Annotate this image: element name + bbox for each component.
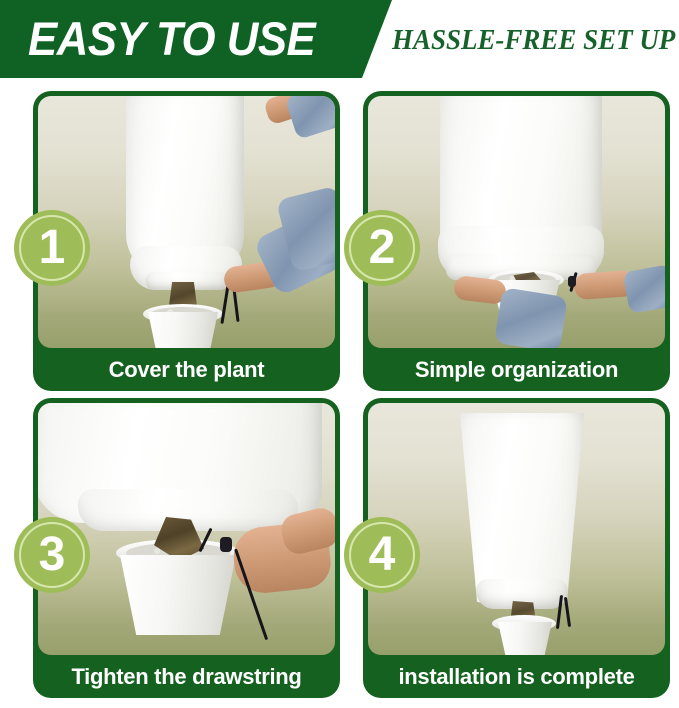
step-caption-3: Tighten the drawstring (38, 655, 335, 698)
step-number-badge-2: 2 (344, 210, 420, 286)
header-banner-area: EASY TO USE HASSLE-FREE SET UP (0, 0, 679, 80)
step-number-badge-1: 1 (14, 210, 90, 286)
step-number-badge-4: 4 (344, 517, 420, 593)
step-photo-4 (368, 403, 665, 655)
steps-grid: Cover the plant Si (0, 88, 679, 708)
step-photo-1 (38, 96, 335, 348)
step-caption-1: Cover the plant (38, 348, 335, 391)
step-number-1: 1 (39, 224, 66, 272)
step-photo-3 (38, 403, 335, 655)
scene-simple-organization (368, 96, 665, 348)
scene-tighten-the-drawstring (38, 403, 335, 655)
step-caption-4: installation is complete (368, 655, 665, 698)
step-number-2: 2 (369, 224, 396, 272)
step-number-badge-3: 3 (14, 517, 90, 593)
page-title: EASY TO USE (28, 12, 344, 66)
scene-installation-is-complete (368, 403, 665, 655)
step-photo-2 (368, 96, 665, 348)
step-caption-2: Simple organization (368, 348, 665, 391)
step-number-4: 4 (369, 531, 396, 579)
scene-cover-the-plant (38, 96, 335, 348)
page-subtitle: HASSLE-FREE SET UP (392, 23, 662, 57)
step-number-3: 3 (39, 531, 66, 579)
